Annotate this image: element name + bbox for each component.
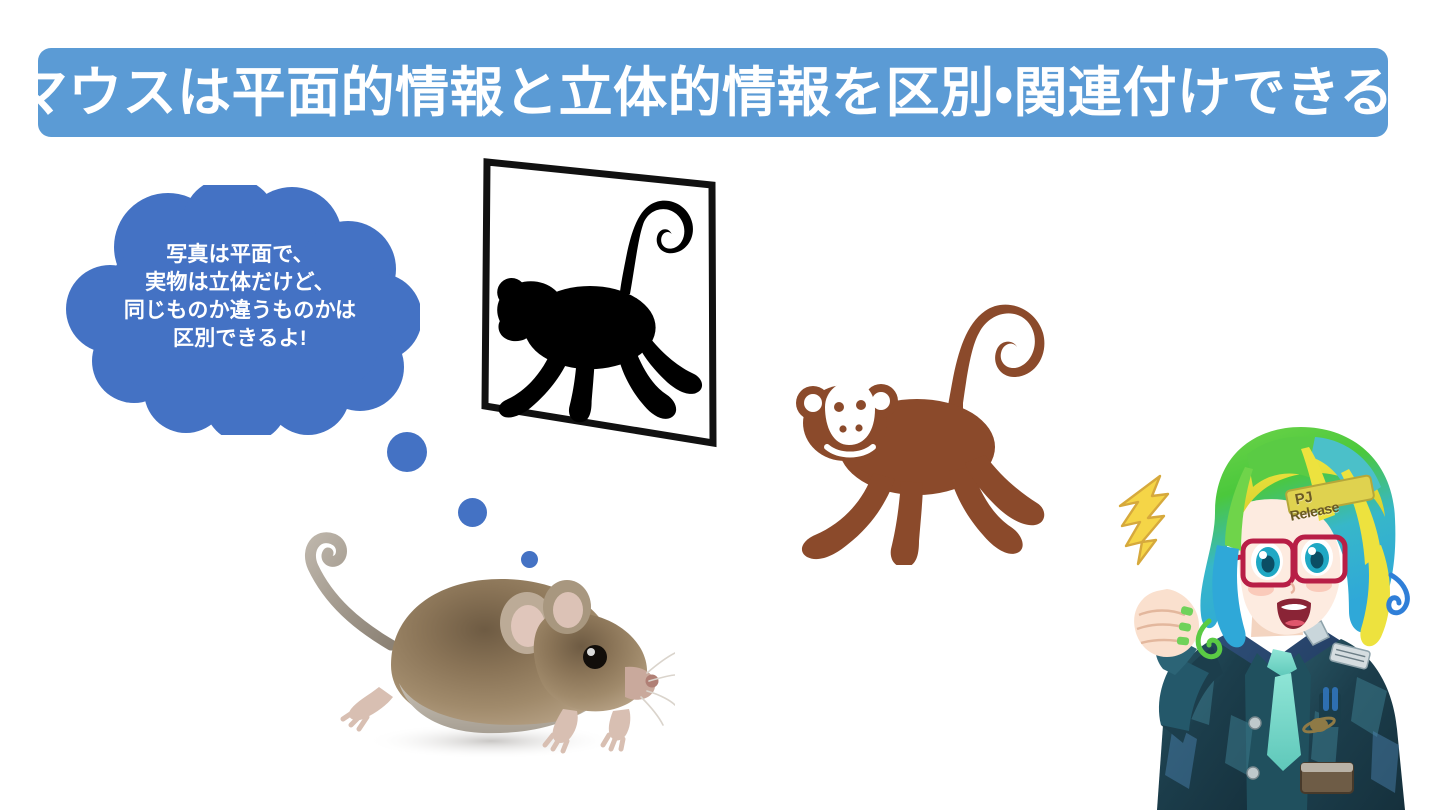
thought-dot-large [387, 432, 427, 472]
page-title: マウスは平面的情報と立体的情報を区別・関連付けできる! [14, 66, 1413, 120]
anime-presenter [1105, 425, 1440, 810]
laboratory-mouse [295, 505, 675, 765]
presenter-illustration [1105, 425, 1440, 810]
real-monkey-object [785, 295, 1055, 565]
thought-bubble: 写真は平面で、 実物は立体だけど、 同じものか違うものかは 区別できるよ! [60, 185, 420, 435]
photo-frame-icon [470, 150, 730, 460]
thought-bubble-text: 写真は平面で、 実物は立体だけど、 同じものか違うものかは 区別できるよ! [60, 241, 420, 353]
thought-line-2: 実物は立体だけど、 [60, 269, 420, 297]
framed-monkey-photo [470, 150, 730, 460]
monkey-icon [785, 295, 1055, 565]
thought-line-3: 同じものか違うものかは [60, 297, 420, 325]
thought-line-1: 写真は平面で、 [60, 241, 420, 269]
thought-line-4: 区別できるよ! [60, 325, 420, 353]
mouse-photo-illustration [295, 505, 675, 765]
title-banner: マウスは平面的情報と立体的情報を区別・関連付けできる! [38, 48, 1388, 137]
